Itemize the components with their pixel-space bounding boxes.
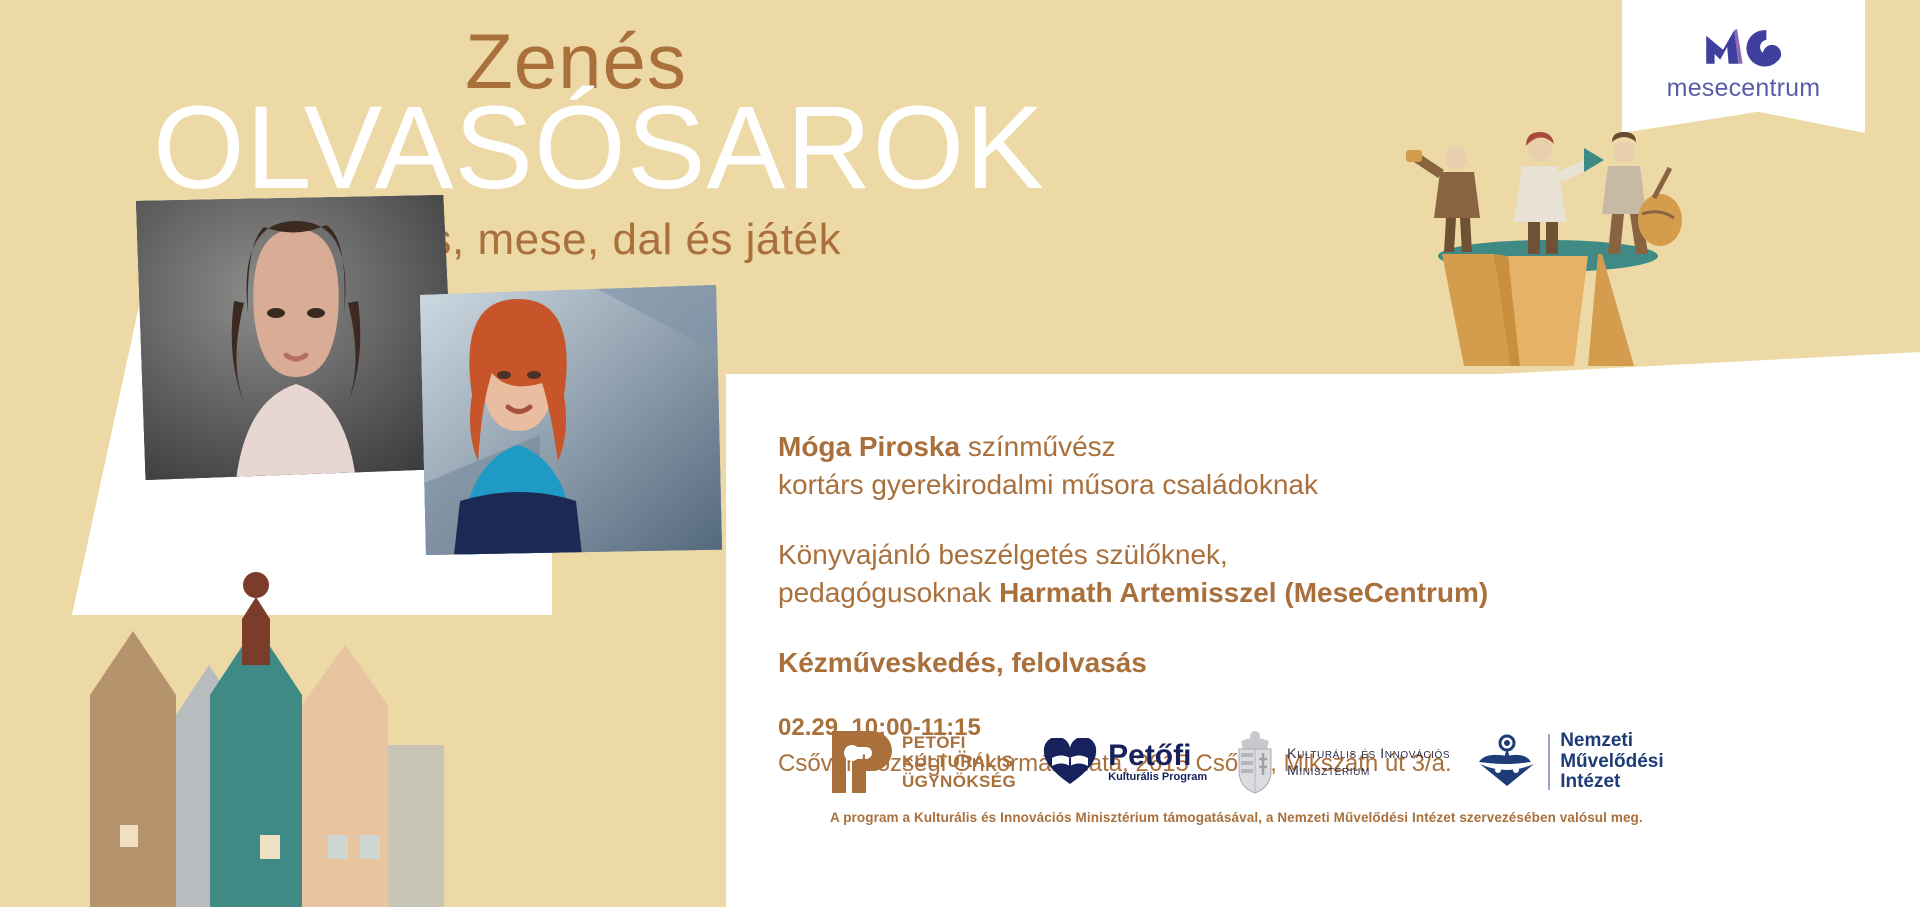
performer-block: Móga Piroska színművész kortárs gyerekir… [778, 428, 1778, 503]
pku-line-2: KULTURÁLIS [902, 752, 1016, 771]
three-people-on-pedestal-illustration [1398, 128, 1698, 368]
talk-guest-name: Harmath Artemisszel (MeseCentrum) [999, 577, 1488, 608]
performer-description: kortárs gyerekirodalmi műsora családokna… [778, 469, 1318, 500]
nmi-line-1: Nemzeti [1560, 731, 1663, 752]
kim-line-2: Minisztérium [1287, 762, 1450, 780]
nmi-line-3: Intézet [1560, 772, 1663, 793]
mesecentrum-logo-card: mesecentrum [1622, 0, 1865, 133]
performer-name: Móga Piroska [778, 431, 960, 462]
portrait-photo-left [136, 195, 456, 480]
hungary-coat-of-arms-icon [1233, 729, 1277, 795]
content-panel: Móga Piroska színművész kortárs gyerekir… [726, 352, 1920, 907]
mc-monogram-icon [1702, 26, 1786, 68]
talk-block: Könyvajánló beszélgetés szülőknek, pedag… [778, 536, 1778, 611]
program-footnote: A program a Kulturális és Innovációs Min… [830, 810, 1830, 825]
village-houses-graphic [60, 545, 460, 907]
pkp-line-1: Petőfi [1108, 741, 1207, 771]
pku-line-1: PETŐFI [902, 733, 1016, 752]
sponsor-petofi-kulturalis-program-text: Petőfi Kulturális Program [1108, 741, 1207, 783]
sponsor-petofi-kulturalis-ugynokseg: PETŐFI KULTURÁLIS ÜGYNÖKSÉG [830, 729, 1016, 795]
talk-line-1: Könyvajánló beszélgetés szülőknek, [778, 539, 1228, 570]
sponsor-kim-text: Kulturális és Innovációs Minisztérium [1287, 745, 1450, 780]
nmi-emblem-icon [1476, 734, 1538, 790]
content-body: Móga Piroska színművész kortárs gyerekir… [778, 428, 1778, 780]
activities-label: Kézműveskedés, felolvasás [778, 644, 1778, 682]
mesecentrum-wordmark: mesecentrum [1667, 74, 1821, 103]
sponsor-kulturalis-es-innovacios-miniszterium: Kulturális és Innovációs Minisztérium [1233, 729, 1450, 795]
sponsor-logo-strip: PETŐFI KULTURÁLIS ÜGYNÖKSÉG Petőfi Kultu… [830, 726, 1820, 798]
petofi-heart-book-icon [1042, 738, 1098, 786]
nmi-line-2: Művelődési [1560, 752, 1663, 773]
performer-role: színművész [960, 431, 1116, 462]
page-title: OLVASÓSAROK [8, 92, 1190, 205]
portrait-photo-right [420, 285, 722, 555]
sponsor-petofi-kulturalis-program: Petőfi Kulturális Program [1042, 738, 1207, 786]
nmi-divider [1548, 734, 1550, 790]
sponsor-nemzeti-muvelodesi-intezet: Nemzeti Művelődési Intézet [1476, 731, 1663, 794]
pku-line-3: ÜGYNÖKSÉG [902, 772, 1016, 791]
kim-line-1: Kulturális és Innovációs [1287, 745, 1450, 763]
talk-line-2-prefix: pedagógusoknak [778, 577, 999, 608]
pkp-line-2: Kulturális Program [1108, 771, 1207, 783]
petofi-p-icon [830, 729, 892, 795]
sponsor-nmi-text: Nemzeti Művelődési Intézet [1560, 731, 1663, 794]
poster-canvas: mesecentrum Zenés OLVASÓSAROK vers, mese… [0, 0, 1920, 907]
sponsor-petofi-kulturalis-ugynokseg-text: PETŐFI KULTURÁLIS ÜGYNÖKSÉG [902, 733, 1016, 790]
